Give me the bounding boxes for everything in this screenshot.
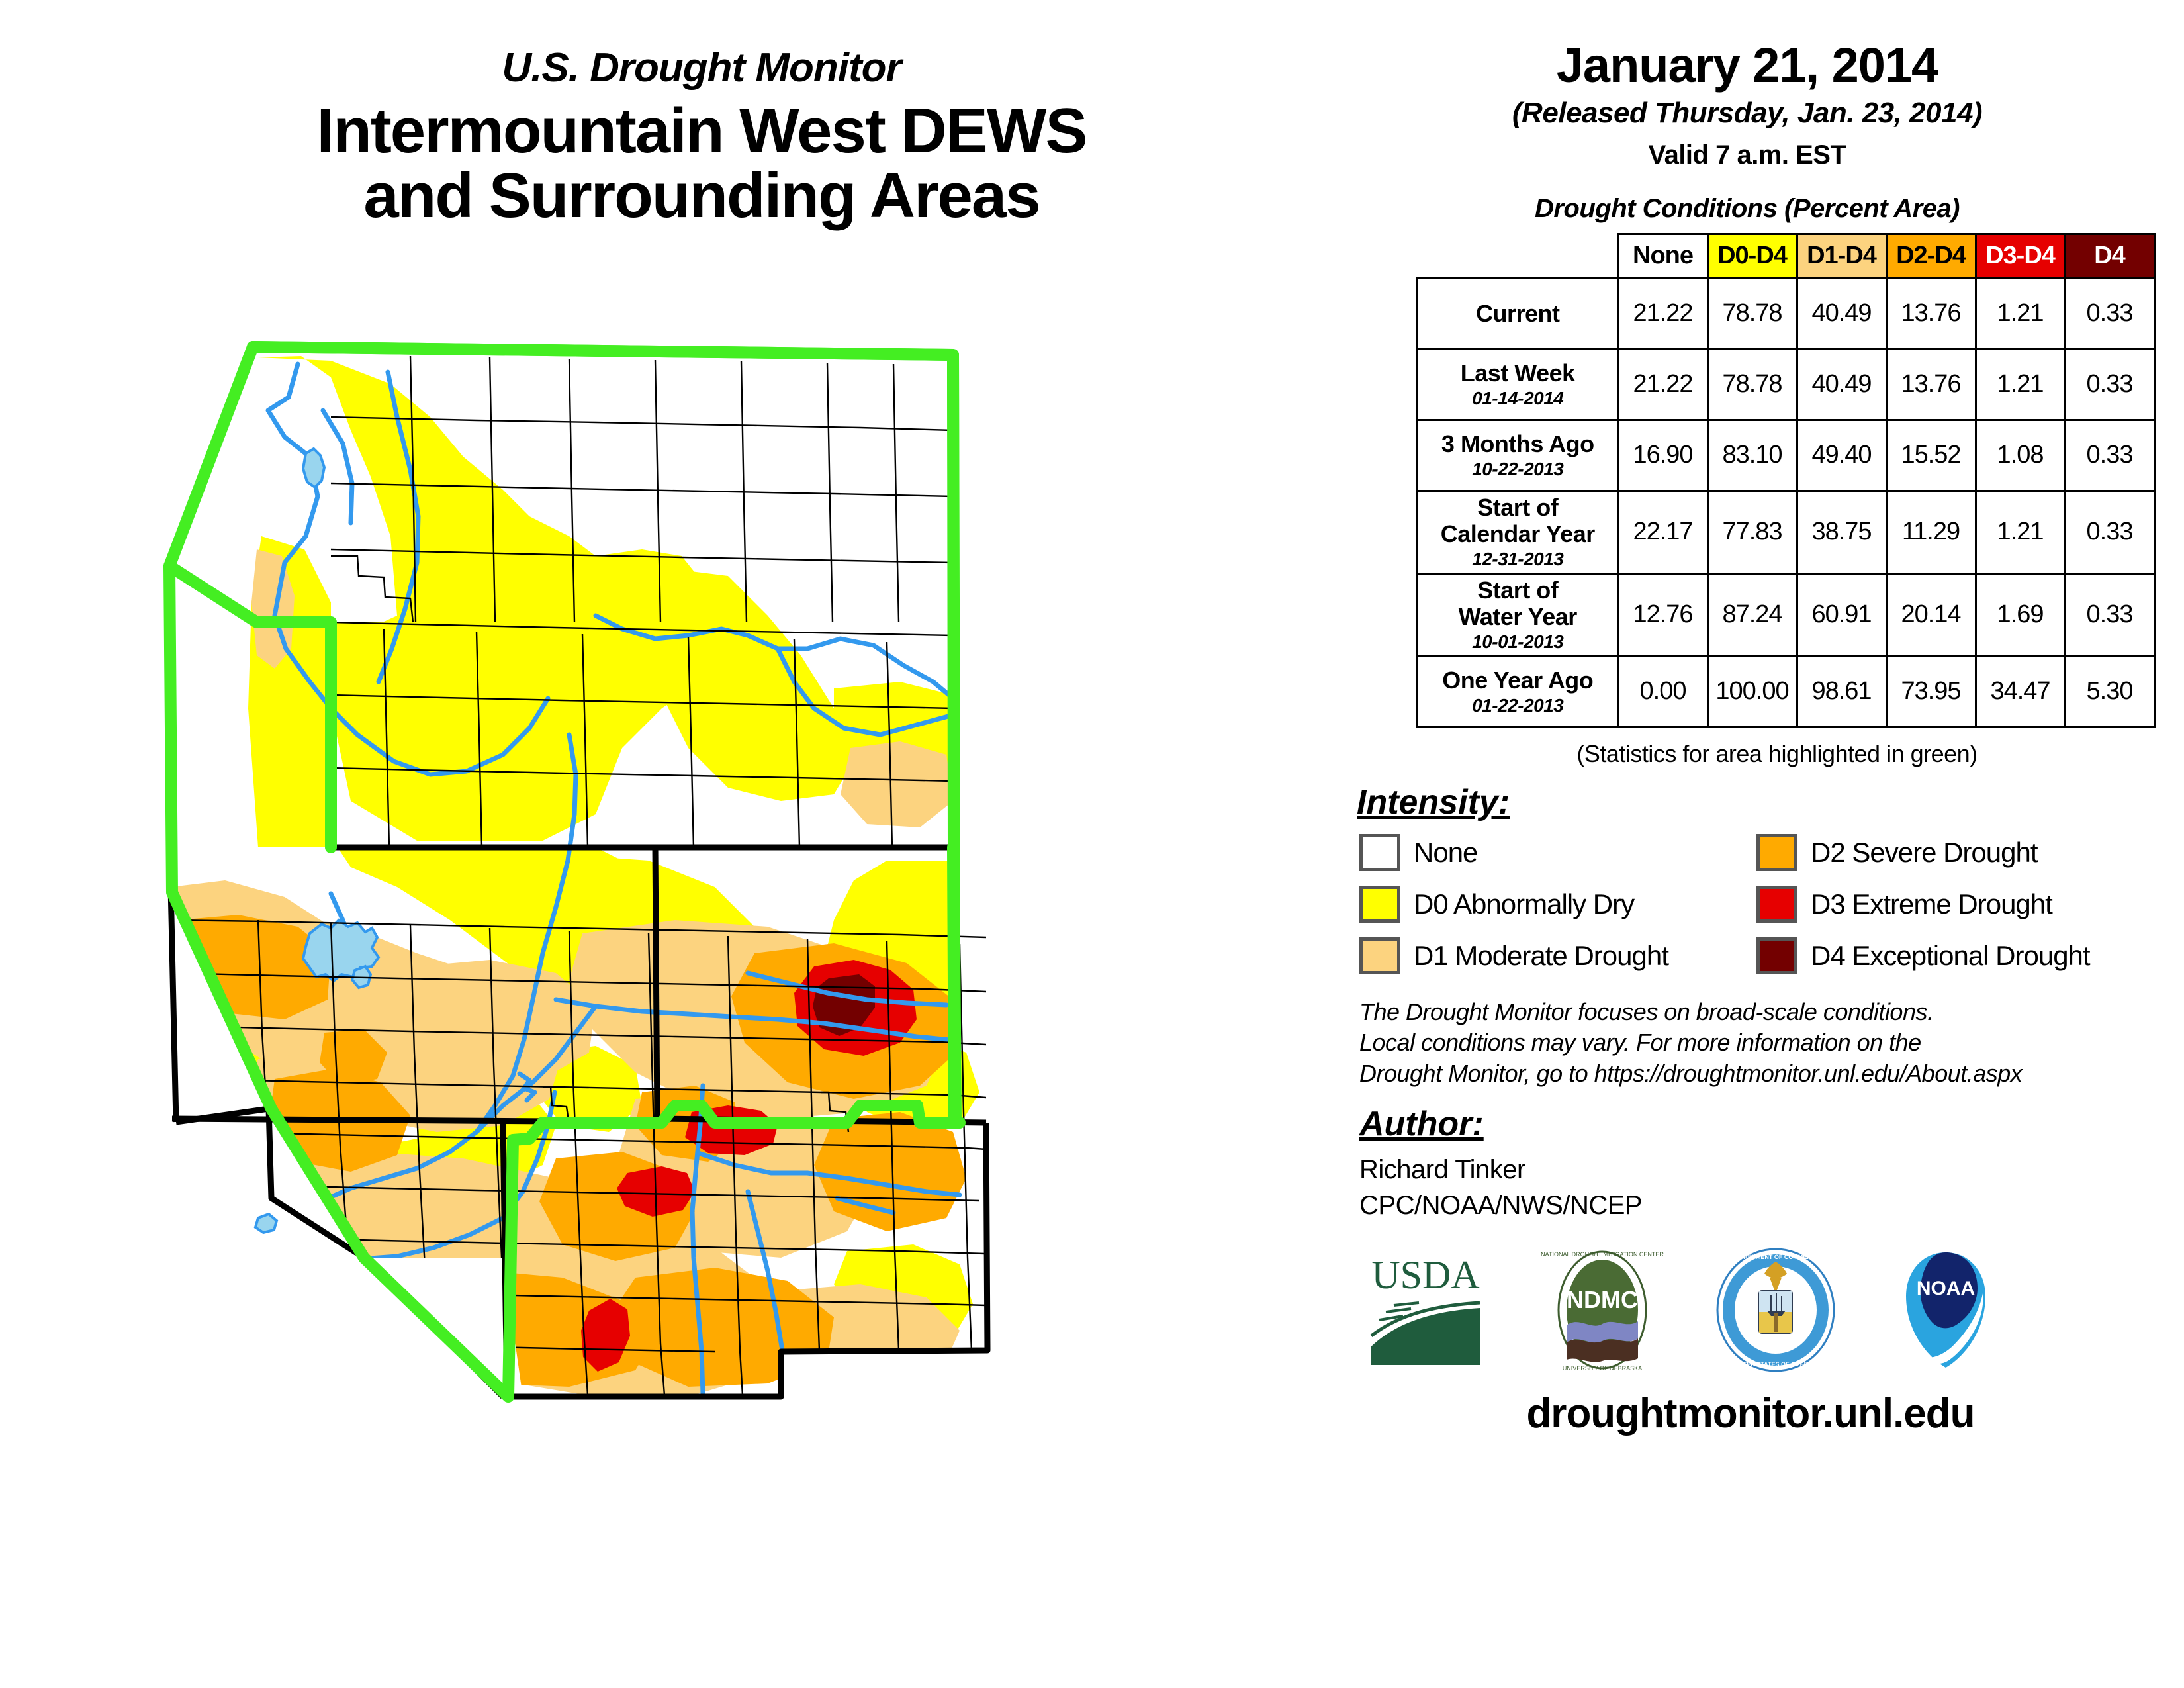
table-row: Start ofCalendar Year12-31-201322.1777.8… [1418, 491, 2155, 573]
row-header-line: Start of [1422, 577, 1614, 604]
table-cell-d3-d4: 34.47 [1976, 656, 2065, 727]
ndmc-logo-text: NDMC [1567, 1286, 1638, 1313]
disclaimer-line-1: The Drought Monitor focuses on broad-sca… [1359, 997, 2158, 1028]
table-row: Start ofWater Year10-01-201312.7687.2460… [1418, 573, 2155, 656]
table-cell-d4: 0.33 [2065, 491, 2154, 573]
doc-ring-top: DEPARTMENT OF COMMERCE [1732, 1254, 1820, 1260]
table-cell-d3-d4: 1.21 [1976, 491, 2065, 573]
page-title-line1: Intermountain West DEWS [93, 99, 1310, 164]
table-cell-d4: 0.33 [2065, 573, 2154, 656]
row-header-line: Start of [1422, 494, 1614, 521]
drought-conditions-table: None D0-D4 D1-D4 D2-D4 D3-D4 D4 Current2… [1416, 233, 2156, 728]
col-header-d4: D4 [2065, 234, 2154, 278]
title-block: U.S. Drought Monitor Intermountain West … [93, 46, 1310, 228]
row-header-date: 01-14-2014 [1422, 388, 1614, 408]
drought-map-svg[interactable] [132, 338, 1165, 1523]
table-cell-d4: 0.33 [2065, 349, 2154, 420]
legend-swatch [1359, 834, 1400, 871]
table-cell-none: 21.22 [1618, 278, 1707, 349]
author-block: Richard Tinker CPC/NOAA/NWS/NCEP [1359, 1152, 2158, 1223]
drought-map[interactable] [132, 338, 1165, 1523]
table-body: Current21.2278.7840.4913.761.210.33Last … [1418, 278, 2155, 727]
table-cell-d1-d4: 38.75 [1797, 491, 1886, 573]
col-header-d3: D3-D4 [1976, 234, 2065, 278]
disclaimer-text: The Drought Monitor focuses on broad-sca… [1359, 997, 2158, 1090]
table-cell-d1-d4: 49.40 [1797, 420, 1886, 491]
author-affiliation: CPC/NOAA/NWS/NCEP [1359, 1188, 2158, 1223]
table-cell-d1-d4: 98.61 [1797, 656, 1886, 727]
ndmc-ring-top: NATIONAL DROUGHT MITIGATION CENTER [1541, 1251, 1664, 1258]
row-header-line: Last Week [1422, 360, 1614, 387]
table-footnote: (Statistics for area highlighted in gree… [1396, 740, 2158, 768]
row-header-date: 10-01-2013 [1422, 632, 1614, 652]
row-header: Start ofCalendar Year12-31-2013 [1418, 491, 1619, 573]
table-header-row: None D0-D4 D1-D4 D2-D4 D3-D4 D4 [1418, 234, 2155, 278]
doc-ring-bottom: UNITED STATES OF AMERICA [1733, 1361, 1819, 1368]
table-cell-d0-d4: 100.00 [1707, 656, 1797, 727]
legend-label: None [1414, 837, 1477, 868]
noaa-logo-text: NOAA [1917, 1278, 1975, 1299]
table-cell-d2-d4: 73.95 [1886, 656, 1976, 727]
legend-item: D4 Exceptional Drought [1756, 937, 2154, 974]
legend-swatch [1756, 937, 1797, 974]
ndmc-ring-bottom: UNIVERSITY OF NEBRASKA [1563, 1365, 1642, 1372]
table-cell-d3-d4: 1.21 [1976, 349, 2065, 420]
noaa-logo: NOAA [1886, 1247, 2005, 1373]
legend-label: D1 Moderate Drought [1414, 940, 1668, 972]
table-cell-none: 0.00 [1618, 656, 1707, 727]
release-date: (Released Thursday, Jan. 23, 2014) [1337, 97, 2158, 130]
row-header: Last Week01-14-2014 [1418, 349, 1619, 420]
row-header-line: Water Year [1422, 604, 1614, 630]
row-header-date: 01-22-2013 [1422, 695, 1614, 716]
valid-time: Valid 7 a.m. EST [1337, 140, 2158, 170]
table-row: Last Week01-14-201421.2278.7840.4913.761… [1418, 349, 2155, 420]
table-cell-d2-d4: 13.76 [1886, 278, 1976, 349]
row-header-line: Current [1422, 301, 1614, 327]
row-header: Current [1418, 278, 1619, 349]
legend-swatch [1756, 886, 1797, 923]
intensity-legend: NoneD2 Severe DroughtD0 Abnormally DryD3… [1359, 834, 2158, 974]
legend-item: D1 Moderate Drought [1359, 937, 1756, 974]
table-cell-none: 12.76 [1618, 573, 1707, 656]
legend-label: D0 Abnormally Dry [1414, 888, 1634, 920]
page-title: Intermountain West DEWS and Surrounding … [93, 99, 1310, 228]
row-header-line: One Year Ago [1422, 667, 1614, 694]
row-header-line: 3 Months Ago [1422, 431, 1614, 457]
logo-row: USDA NDMC NATIONAL DROUGHT MITIGATION CE… [1359, 1247, 2158, 1373]
page-supertitle: U.S. Drought Monitor [93, 46, 1310, 89]
table-row: One Year Ago01-22-20130.00100.0098.6173.… [1418, 656, 2155, 727]
author-name: Richard Tinker [1359, 1152, 2158, 1188]
ndmc-logo: NDMC NATIONAL DROUGHT MITIGATION CENTER … [1539, 1247, 1665, 1373]
disclaimer-line-2: Local conditions may vary. For more info… [1359, 1027, 2158, 1058]
table-cell-d0-d4: 78.78 [1707, 278, 1797, 349]
legend-swatch [1756, 834, 1797, 871]
table-cell-d0-d4: 78.78 [1707, 349, 1797, 420]
date-block: January 21, 2014 (Released Thursday, Jan… [1337, 40, 2158, 170]
table-cell-d4: 5.30 [2065, 656, 2154, 727]
table-cell-d3-d4: 1.21 [1976, 278, 2065, 349]
table-corner-cell [1418, 234, 1619, 278]
author-heading: Author: [1359, 1104, 2158, 1144]
legend-item: D0 Abnormally Dry [1359, 886, 1756, 923]
table-cell-d0-d4: 77.83 [1707, 491, 1797, 573]
legend-swatch [1359, 886, 1400, 923]
table-caption: Drought Conditions (Percent Area) [1337, 194, 2158, 224]
legend-label: D4 Exceptional Drought [1811, 940, 2090, 972]
usda-logo-text: USDA [1371, 1253, 1479, 1297]
table-cell-d1-d4: 40.49 [1797, 349, 1886, 420]
table-cell-d3-d4: 1.69 [1976, 573, 2065, 656]
legend-swatch [1359, 937, 1400, 974]
legend-label: D2 Severe Drought [1811, 837, 2038, 868]
table-cell-none: 16.90 [1618, 420, 1707, 491]
col-header-none: None [1618, 234, 1707, 278]
table-row: Current21.2278.7840.4913.761.210.33 [1418, 278, 2155, 349]
table-cell-d0-d4: 83.10 [1707, 420, 1797, 491]
table-cell-d4: 0.33 [2065, 278, 2154, 349]
row-header-date: 10-22-2013 [1422, 459, 1614, 479]
legend-item: D2 Severe Drought [1756, 834, 2154, 871]
site-url[interactable]: droughtmonitor.unl.edu [1343, 1390, 2158, 1437]
table-cell-none: 22.17 [1618, 491, 1707, 573]
row-header: Start ofWater Year10-01-2013 [1418, 573, 1619, 656]
table-cell-d3-d4: 1.08 [1976, 420, 2065, 491]
table-cell-d2-d4: 20.14 [1886, 573, 1976, 656]
table-cell-none: 21.22 [1618, 349, 1707, 420]
disclaimer-line-3: Drought Monitor, go to https://droughtmo… [1359, 1058, 2158, 1090]
legend-heading: Intensity: [1357, 782, 2158, 822]
page-title-line2: and Surrounding Areas [93, 164, 1310, 228]
col-header-d2: D2-D4 [1886, 234, 1976, 278]
table-cell-d0-d4: 87.24 [1707, 573, 1797, 656]
col-header-d0: D0-D4 [1707, 234, 1797, 278]
right-panel: January 21, 2014 (Released Thursday, Jan… [1337, 40, 2158, 1437]
table-cell-d1-d4: 40.49 [1797, 278, 1886, 349]
table-row: 3 Months Ago10-22-201316.9083.1049.4015.… [1418, 420, 2155, 491]
usda-logo: USDA [1359, 1247, 1492, 1373]
doc-logo: DEPARTMENT OF COMMERCE UNITED STATES OF … [1713, 1247, 1839, 1373]
row-header-date: 12-31-2013 [1422, 549, 1614, 569]
table-cell-d4: 0.33 [2065, 420, 2154, 491]
legend-item: None [1359, 834, 1756, 871]
legend-label: D3 Extreme Drought [1811, 888, 2052, 920]
col-header-d1: D1-D4 [1797, 234, 1886, 278]
table-cell-d2-d4: 15.52 [1886, 420, 1976, 491]
row-header: 3 Months Ago10-22-2013 [1418, 420, 1619, 491]
row-header: One Year Ago01-22-2013 [1418, 656, 1619, 727]
table-cell-d2-d4: 13.76 [1886, 349, 1976, 420]
table-cell-d1-d4: 60.91 [1797, 573, 1886, 656]
table-cell-d2-d4: 11.29 [1886, 491, 1976, 573]
report-date: January 21, 2014 [1337, 40, 2158, 91]
legend-item: D3 Extreme Drought [1756, 886, 2154, 923]
row-header-line: Calendar Year [1422, 521, 1614, 547]
